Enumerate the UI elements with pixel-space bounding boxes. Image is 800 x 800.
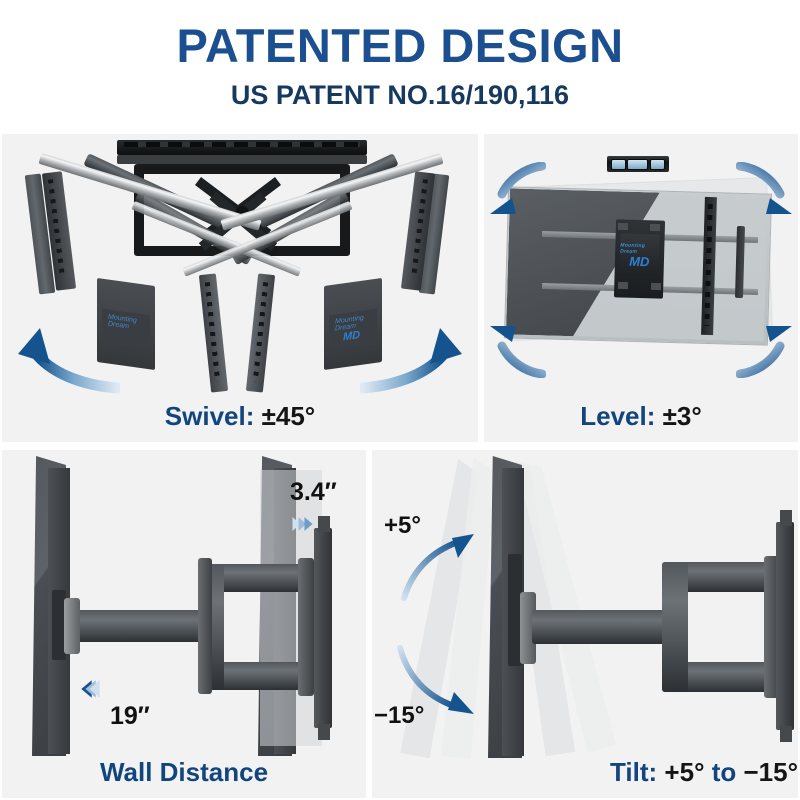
wall-plate-top-edge xyxy=(117,155,367,164)
panel-tilt: +5° −15° Tilt: +5° to −15° xyxy=(372,450,798,798)
bracket-tab-tl xyxy=(618,223,628,230)
tilt-caption-value-b: −15° xyxy=(743,757,798,787)
tilt-caption: Tilt: +5° to −15° xyxy=(372,757,798,788)
tilt-wall-plate xyxy=(776,522,794,730)
level-caption-value: ±3° xyxy=(663,401,702,431)
bracket-logo-plate: Mounting Dream MD xyxy=(619,233,659,276)
level-arrow-bottom-right-icon xyxy=(736,320,796,378)
level-caption-label: Level: xyxy=(580,401,655,431)
bubble-level-icon xyxy=(607,156,669,172)
swivel-arrow-left-icon xyxy=(10,324,120,394)
wall-plate-top-tab xyxy=(318,516,330,532)
chevron-far-3-icon xyxy=(89,680,99,698)
wall-plate-side xyxy=(314,528,332,728)
swivel-caption: Swivel: ±45° xyxy=(2,401,478,432)
wall-plate-slots xyxy=(124,142,360,147)
pivot-joint-right xyxy=(298,558,314,696)
wall-distance-caption: Wall Distance xyxy=(2,757,366,788)
tilt-arrow-up-icon xyxy=(400,532,492,604)
swivel-caption-value: ±45° xyxy=(262,401,316,431)
panel-wall-distance: 3.4″ 19″ Wall Distance xyxy=(2,450,366,798)
page-subtitle: US PATENT NO.16/190,116 xyxy=(231,80,569,111)
extension-arm-lower xyxy=(74,610,210,642)
wall-distance-caption-label: Wall Distance xyxy=(100,757,268,787)
chevrons-near xyxy=(290,513,315,535)
tilt-arm-elbow xyxy=(662,562,688,692)
tilt-wall-plate-bottom-tab xyxy=(780,726,792,742)
infographic-page: PATENTED DESIGN US PATENT NO.16/190,116 xyxy=(0,0,800,800)
swivel-arrow-right-icon xyxy=(360,324,470,394)
panel-swivel: Mounting Dream Mounting Dream MD xyxy=(2,134,478,442)
panel-level: Mounting Dream MD xyxy=(484,134,798,442)
level-arrow-top-right-icon xyxy=(736,162,796,220)
level-arrow-bottom-left-icon xyxy=(486,320,546,378)
level-vial-right xyxy=(650,159,665,170)
swivel-caption-label: Swivel: xyxy=(165,401,255,431)
bracket-tab-tr xyxy=(650,224,660,231)
chevrons-far xyxy=(80,678,101,700)
pivot-joint-mid xyxy=(198,558,212,694)
tilt-caption-label: Tilt: xyxy=(610,757,657,787)
chevron-near-3-icon xyxy=(304,517,312,531)
measure-label-far: 19″ xyxy=(110,702,150,731)
tilt-caption-value-a: +5° xyxy=(664,757,704,787)
tilt-angle-down-label: −15° xyxy=(374,702,424,730)
page-title: PATENTED DESIGN xyxy=(176,22,623,69)
tilt-arm-lower xyxy=(532,610,676,644)
measure-label-near: 3.4″ xyxy=(290,478,337,507)
level-caption: Level: ±3° xyxy=(484,401,798,432)
level-vial-left xyxy=(611,159,626,170)
tilt-caption-mid: to xyxy=(712,757,737,787)
wall-plate-bottom-tab xyxy=(318,724,330,740)
bracket-tab-bl xyxy=(618,282,628,289)
tilt-wall-plate-top-tab xyxy=(780,510,792,526)
level-vial-center xyxy=(627,159,648,170)
bracket-logo-mark: MD xyxy=(629,254,650,268)
bracket-tab-br xyxy=(651,283,661,290)
header: PATENTED DESIGN US PATENT NO.16/190,116 xyxy=(0,0,800,128)
level-arrow-top-left-icon xyxy=(486,162,546,220)
pivot-joint-left xyxy=(64,598,80,654)
